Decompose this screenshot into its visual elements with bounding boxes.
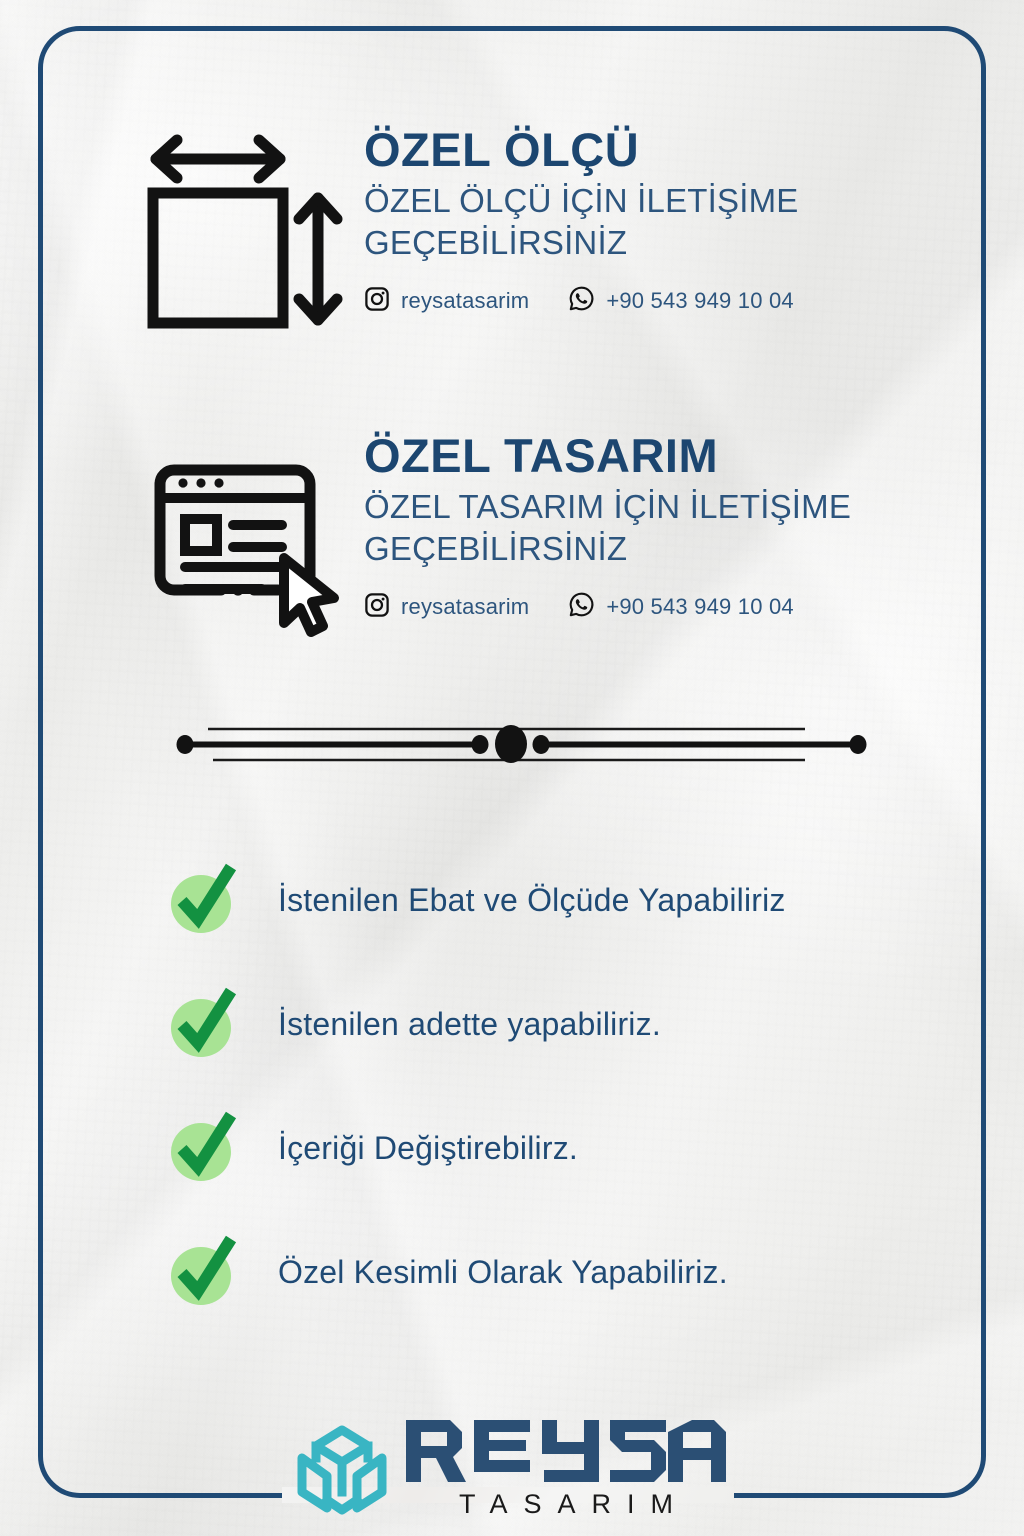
list-item: İstenilen Ebat ve Ölçüde Yapabiliriz xyxy=(168,838,958,962)
contact-instagram[interactable]: reysatasarim xyxy=(364,592,529,623)
dimensions-square-icon xyxy=(132,126,364,356)
poster-root: ÖZEL ÖLÇÜ ÖZEL ÖLÇÜ İÇİN İLETİŞİME GEÇEB… xyxy=(0,0,1024,1536)
benefits-checklist: İstenilen Ebat ve Ölçüde Yapabiliriz İst… xyxy=(168,838,958,1334)
contact-whatsapp[interactable]: +90 543 949 10 04 xyxy=(568,591,794,623)
feature-block-ozel-tasarim: ÖZEL TASARIM ÖZEL TASARIM İÇİN İLETİŞİME… xyxy=(132,432,964,642)
green-check-icon xyxy=(168,1235,242,1309)
feature-title: ÖZEL ÖLÇÜ xyxy=(364,126,924,174)
list-item-label: İstenilen Ebat ve Ölçüde Yapabiliriz xyxy=(278,882,786,919)
list-item: Özel Kesimli Olarak Yapabiliriz. xyxy=(168,1210,958,1334)
whatsapp-icon xyxy=(568,591,595,623)
contact-instagram[interactable]: reysatasarim xyxy=(364,286,529,317)
feature-text-ozel-olcu: ÖZEL ÖLÇÜ ÖZEL ÖLÇÜ İÇİN İLETİŞİME GEÇEB… xyxy=(364,126,924,317)
list-item: İstenilen adette yapabiliriz. xyxy=(168,962,958,1086)
green-check-icon xyxy=(168,863,242,937)
instagram-icon xyxy=(364,592,390,623)
logo-brand-reysa xyxy=(406,1420,726,1487)
whatsapp-number: +90 543 949 10 04 xyxy=(606,288,794,314)
contact-row: reysatasarim +90 543 949 10 04 xyxy=(364,285,924,317)
feature-title: ÖZEL TASARIM xyxy=(364,432,964,480)
contact-row: reysatasarim +90 543 949 10 04 xyxy=(364,591,964,623)
brand-logo: TASARIM xyxy=(296,1420,726,1536)
list-item: İçeriği Değiştirebilirz. xyxy=(168,1086,958,1210)
feature-subtitle: ÖZEL ÖLÇÜ İÇİN İLETİŞİME GEÇEBİLİRSİNİZ xyxy=(364,180,924,264)
logo-wordmark: TASARIM xyxy=(406,1420,726,1518)
feature-block-ozel-olcu: ÖZEL ÖLÇÜ ÖZEL ÖLÇÜ İÇİN İLETİŞİME GEÇEB… xyxy=(132,126,924,356)
instagram-handle: reysatasarim xyxy=(401,288,529,314)
feature-text-ozel-tasarim: ÖZEL TASARIM ÖZEL TASARIM İÇİN İLETİŞİME… xyxy=(364,432,964,623)
list-item-label: Özel Kesimli Olarak Yapabiliriz. xyxy=(278,1254,728,1291)
ornamental-divider xyxy=(175,712,875,774)
list-item-label: İstenilen adette yapabiliriz. xyxy=(278,1006,661,1043)
green-check-icon xyxy=(168,1111,242,1185)
whatsapp-number: +90 543 949 10 04 xyxy=(606,594,794,620)
logo-sub-tasarim: TASARIM xyxy=(406,1491,726,1518)
whatsapp-icon xyxy=(568,285,595,317)
green-check-icon xyxy=(168,987,242,1061)
contact-whatsapp[interactable]: +90 543 949 10 04 xyxy=(568,285,794,317)
instagram-icon xyxy=(364,286,390,317)
instagram-handle: reysatasarim xyxy=(401,594,529,620)
feature-subtitle: ÖZEL TASARIM İÇİN İLETİŞİME GEÇEBİLİRSİN… xyxy=(364,486,964,570)
web-design-cursor-icon xyxy=(132,432,364,642)
reysa-cube-icon xyxy=(296,1424,388,1533)
list-item-label: İçeriği Değiştirebilirz. xyxy=(278,1130,578,1167)
